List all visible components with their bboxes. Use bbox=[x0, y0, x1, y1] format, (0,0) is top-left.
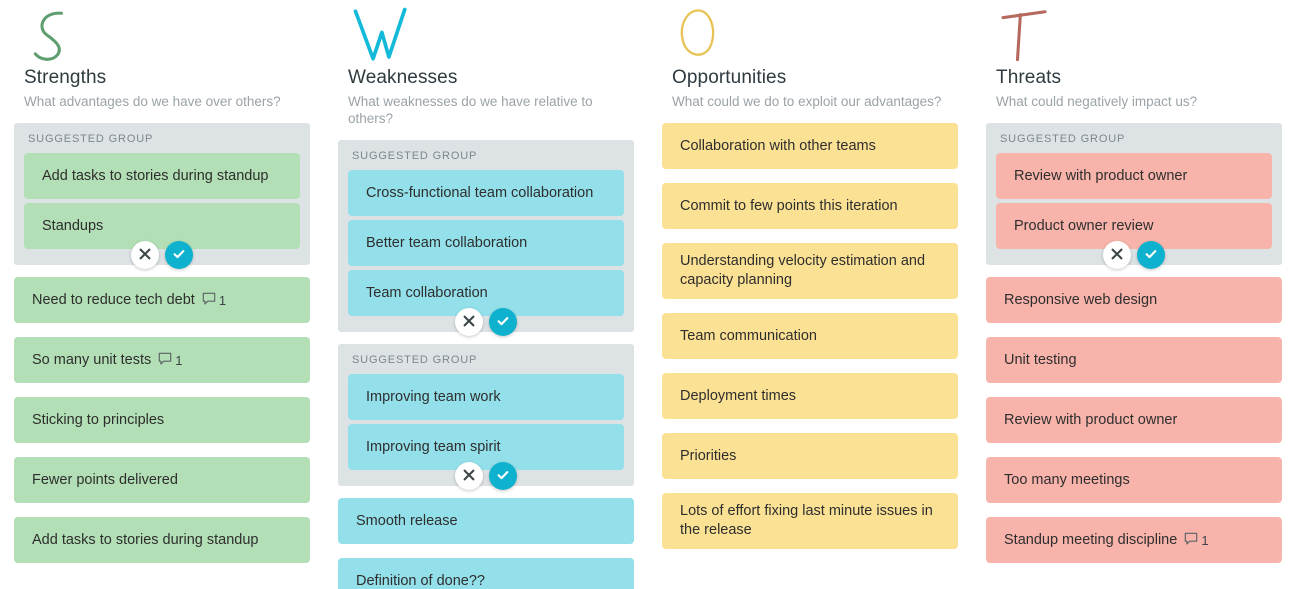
column-title: Weaknesses bbox=[348, 66, 624, 90]
card-text: So many unit tests bbox=[32, 351, 151, 370]
sticky-note-card[interactable]: Review with product owner bbox=[986, 397, 1282, 443]
suggested-group: SUGGESTED GROUPAdd tasks to stories duri… bbox=[14, 123, 310, 265]
swot-column-strengths: StrengthsWhat advantages do we have over… bbox=[0, 0, 324, 589]
comment-count-value: 1 bbox=[219, 291, 226, 310]
check-icon bbox=[1144, 247, 1158, 264]
column-glyph bbox=[672, 0, 948, 66]
sticky-note-card[interactable]: Understanding velocity estimation and ca… bbox=[662, 243, 958, 299]
card-text: Need to reduce tech debt bbox=[32, 291, 195, 310]
comment-bubble-icon bbox=[158, 352, 172, 372]
column-title: Threats bbox=[996, 66, 1272, 90]
sticky-note-card[interactable]: Sticking to principles bbox=[14, 397, 310, 443]
comment-count[interactable]: 1 bbox=[202, 292, 226, 312]
sticky-note-card[interactable]: Definition of done?? bbox=[338, 558, 634, 589]
column-card-list: SUGGESTED GROUPAdd tasks to stories duri… bbox=[0, 123, 324, 563]
suggested-group: SUGGESTED GROUPCross-functional team col… bbox=[338, 140, 634, 332]
suggested-group-actions bbox=[455, 308, 517, 336]
close-x-icon bbox=[463, 315, 475, 330]
card-text: Add tasks to stories during standup bbox=[32, 531, 259, 550]
sticky-note-card[interactable]: Better team collaboration bbox=[348, 220, 624, 266]
card-text: Lots of effort fixing last minute issues… bbox=[680, 502, 940, 540]
column-card-list: SUGGESTED GROUPReview with product owner… bbox=[972, 123, 1296, 563]
suggested-group: SUGGESTED GROUPReview with product owner… bbox=[986, 123, 1282, 265]
card-text: Priorities bbox=[680, 447, 736, 466]
column-subtitle: What advantages do we have over others? bbox=[24, 93, 296, 110]
sticky-note-card[interactable]: Deployment times bbox=[662, 373, 958, 419]
close-x-icon bbox=[463, 469, 475, 484]
suggested-group-label: SUGGESTED GROUP bbox=[352, 150, 624, 162]
reject-group-button[interactable] bbox=[1103, 241, 1131, 269]
comment-bubble-icon bbox=[1184, 532, 1198, 552]
sticky-note-card[interactable]: Add tasks to stories during standup bbox=[14, 517, 310, 563]
card-text: Improving team spirit bbox=[366, 438, 501, 457]
card-text: Too many meetings bbox=[1004, 471, 1130, 490]
sticky-note-card[interactable]: Commit to few points this iteration bbox=[662, 183, 958, 229]
card-text: Review with product owner bbox=[1004, 411, 1177, 430]
sticky-note-card[interactable]: Cross-functional team collaboration bbox=[348, 170, 624, 216]
card-text: Improving team work bbox=[366, 388, 501, 407]
column-glyph bbox=[996, 0, 1272, 66]
card-text: Responsive web design bbox=[1004, 291, 1157, 310]
card-text: Smooth release bbox=[356, 512, 458, 531]
column-glyph bbox=[348, 0, 624, 66]
card-text: Standup meeting discipline bbox=[1004, 531, 1177, 550]
sticky-note-card[interactable]: Priorities bbox=[662, 433, 958, 479]
card-text: Collaboration with other teams bbox=[680, 137, 876, 156]
suggested-group-label: SUGGESTED GROUP bbox=[352, 354, 624, 366]
card-text: Unit testing bbox=[1004, 351, 1077, 370]
suggested-group-label: SUGGESTED GROUP bbox=[1000, 133, 1272, 145]
swot-column-weaknesses: WeaknessesWhat weaknesses do we have rel… bbox=[324, 0, 648, 589]
check-icon bbox=[496, 468, 510, 485]
sticky-note-card[interactable]: Add tasks to stories during standup bbox=[24, 153, 300, 199]
accept-group-button[interactable] bbox=[1137, 241, 1165, 269]
card-text: Sticking to principles bbox=[32, 411, 164, 430]
card-text: Understanding velocity estimation and ca… bbox=[680, 252, 940, 290]
column-header-opportunities: OpportunitiesWhat could we do to exploit… bbox=[648, 0, 972, 110]
sticky-note-card[interactable]: Unit testing bbox=[986, 337, 1282, 383]
card-text: Team collaboration bbox=[366, 284, 488, 303]
handwritten-letter-w-icon bbox=[350, 6, 624, 64]
sticky-note-card[interactable]: Collaboration with other teams bbox=[662, 123, 958, 169]
comment-count[interactable]: 1 bbox=[158, 352, 182, 372]
comment-count[interactable]: 1 bbox=[1184, 532, 1208, 552]
ungrouped-cards: Smooth releaseDefinition of done?? bbox=[324, 498, 648, 589]
card-text: Add tasks to stories during standup bbox=[42, 167, 269, 186]
card-text: Definition of done?? bbox=[356, 572, 485, 589]
swot-column-opportunities: OpportunitiesWhat could we do to exploit… bbox=[648, 0, 972, 589]
sticky-note-card[interactable]: Team communication bbox=[662, 313, 958, 359]
column-header-weaknesses: WeaknessesWhat weaknesses do we have rel… bbox=[324, 0, 648, 127]
swot-column-threats: ThreatsWhat could negatively impact us?S… bbox=[972, 0, 1296, 589]
suggested-group: SUGGESTED GROUPImproving team workImprov… bbox=[338, 344, 634, 486]
card-text: Cross-functional team collaboration bbox=[366, 184, 593, 203]
check-icon bbox=[172, 247, 186, 264]
comment-bubble-icon bbox=[202, 292, 216, 312]
check-icon bbox=[496, 314, 510, 331]
column-title: Opportunities bbox=[672, 66, 948, 90]
sticky-note-card[interactable]: Review with product owner bbox=[996, 153, 1272, 199]
column-header-threats: ThreatsWhat could negatively impact us? bbox=[972, 0, 1296, 110]
card-text: Review with product owner bbox=[1014, 167, 1187, 186]
card-text: Product owner review bbox=[1014, 217, 1153, 236]
ungrouped-cards: Responsive web designUnit testingReview … bbox=[972, 277, 1296, 563]
handwritten-letter-s-icon bbox=[26, 6, 300, 64]
sticky-note-card[interactable]: Fewer points delivered bbox=[14, 457, 310, 503]
card-text: Team communication bbox=[680, 327, 817, 346]
sticky-note-card[interactable]: Standup meeting discipline1 bbox=[986, 517, 1282, 563]
reject-group-button[interactable] bbox=[455, 462, 483, 490]
sticky-note-card[interactable]: Responsive web design bbox=[986, 277, 1282, 323]
reject-group-button[interactable] bbox=[455, 308, 483, 336]
sticky-note-card[interactable]: Too many meetings bbox=[986, 457, 1282, 503]
suggested-group-label: SUGGESTED GROUP bbox=[28, 133, 300, 145]
column-card-list: SUGGESTED GROUPCross-functional team col… bbox=[324, 140, 648, 589]
reject-group-button[interactable] bbox=[131, 241, 159, 269]
sticky-note-card[interactable]: Improving team work bbox=[348, 374, 624, 420]
ungrouped-cards: Collaboration with other teamsCommit to … bbox=[648, 123, 972, 549]
card-text: Standups bbox=[42, 217, 103, 236]
suggested-group-actions bbox=[131, 241, 193, 269]
column-subtitle: What could negatively impact us? bbox=[996, 93, 1268, 110]
suggested-group-actions bbox=[455, 462, 517, 490]
column-header-strengths: StrengthsWhat advantages do we have over… bbox=[0, 0, 324, 110]
handwritten-letter-o-icon bbox=[674, 6, 948, 64]
close-x-icon bbox=[1111, 248, 1123, 263]
column-subtitle: What could we do to exploit our advantag… bbox=[672, 93, 944, 110]
swot-board: StrengthsWhat advantages do we have over… bbox=[0, 0, 1315, 589]
accept-group-button[interactable] bbox=[165, 241, 193, 269]
card-text: Better team collaboration bbox=[366, 234, 527, 253]
column-subtitle: What weaknesses do we have relative to o… bbox=[348, 93, 620, 127]
comment-count-value: 1 bbox=[175, 351, 182, 370]
sticky-note-card[interactable]: Smooth release bbox=[338, 498, 634, 544]
card-text: Commit to few points this iteration bbox=[680, 197, 898, 216]
close-x-icon bbox=[139, 248, 151, 263]
card-text: Deployment times bbox=[680, 387, 796, 406]
comment-count-value: 1 bbox=[1201, 531, 1208, 550]
sticky-note-card[interactable]: Need to reduce tech debt1 bbox=[14, 277, 310, 323]
accept-group-button[interactable] bbox=[489, 462, 517, 490]
column-title: Strengths bbox=[24, 66, 300, 90]
column-glyph bbox=[24, 0, 300, 66]
card-text: Fewer points delivered bbox=[32, 471, 178, 490]
suggested-group-actions bbox=[1103, 241, 1165, 269]
sticky-note-card[interactable]: So many unit tests1 bbox=[14, 337, 310, 383]
sticky-note-card[interactable]: Lots of effort fixing last minute issues… bbox=[662, 493, 958, 549]
ungrouped-cards: Need to reduce tech debt1So many unit te… bbox=[0, 277, 324, 563]
accept-group-button[interactable] bbox=[489, 308, 517, 336]
handwritten-letter-t-icon bbox=[998, 6, 1272, 64]
column-card-list: Collaboration with other teamsCommit to … bbox=[648, 123, 972, 549]
